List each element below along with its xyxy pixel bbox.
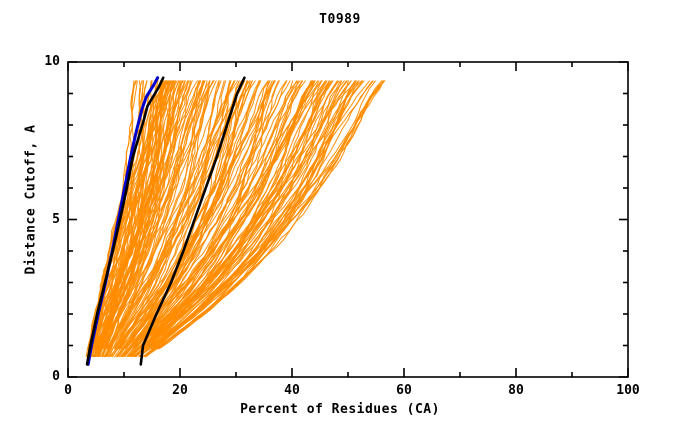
chart-root: T0989 Distance Cutoff, A Percent of Resi… [0,0,680,440]
y-tick-label: 0 [20,369,60,384]
x-tick-label: 40 [262,383,322,398]
x-tick-label: 100 [598,383,658,398]
y-axis-label: Distance Cutoff, A [24,90,39,310]
x-axis-label: Percent of Residues (CA) [0,402,680,417]
x-tick-label: 20 [150,383,210,398]
x-tick-label: 60 [374,383,434,398]
x-tick-label: 80 [486,383,546,398]
y-tick-label: 10 [20,54,60,69]
x-tick-label: 0 [38,383,98,398]
y-tick-label: 5 [20,212,60,227]
plot-canvas [0,0,680,440]
curves-layer [86,78,385,365]
